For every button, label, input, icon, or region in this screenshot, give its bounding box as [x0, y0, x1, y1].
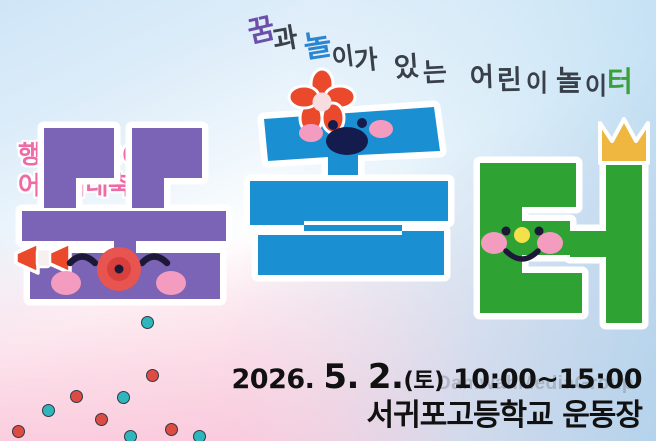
festival-poster: 꿈과놀이가있는어린이놀이터 행복 2026 어린이대축제 [0, 0, 656, 441]
tagline-char: 가 [353, 47, 380, 75]
event-date: 2026. 5. 2.(토) 10:00~15:00 [232, 358, 642, 397]
decorative-dot [95, 413, 108, 426]
date-month: 5. [323, 357, 359, 397]
main-title [0, 85, 656, 330]
decorative-dot [42, 404, 55, 417]
decorative-dot [117, 391, 130, 404]
tagline-char: 는 [422, 59, 447, 86]
tagline-char: 있 [393, 53, 420, 82]
decorative-dot [193, 430, 206, 441]
event-venue: 서귀포고등학교 운동장 [232, 398, 642, 433]
decorative-dot [141, 316, 154, 329]
date-day: 2. [368, 357, 404, 397]
title-glyph-nol [236, 89, 471, 294]
decorative-dot [70, 390, 83, 403]
tagline-char: 과 [271, 24, 300, 55]
decorative-dot [165, 423, 178, 436]
tagline-char: 놀 [302, 30, 334, 64]
date-year: 2026. [232, 364, 315, 395]
date-weekday: (토) [403, 368, 444, 394]
decorative-dot [146, 369, 159, 382]
title-glyph-teo [466, 145, 656, 330]
event-info: 2026. 5. 2.(토) 10:00~15:00 서귀포고등학교 운동장 [232, 358, 642, 433]
date-time: 10:00~15:00 [453, 364, 642, 395]
decorative-dots [0, 296, 260, 441]
decorative-dot [12, 425, 25, 438]
title-glyph-kkum [14, 103, 264, 303]
crown-icon [600, 119, 648, 163]
decorative-dot [124, 430, 137, 441]
